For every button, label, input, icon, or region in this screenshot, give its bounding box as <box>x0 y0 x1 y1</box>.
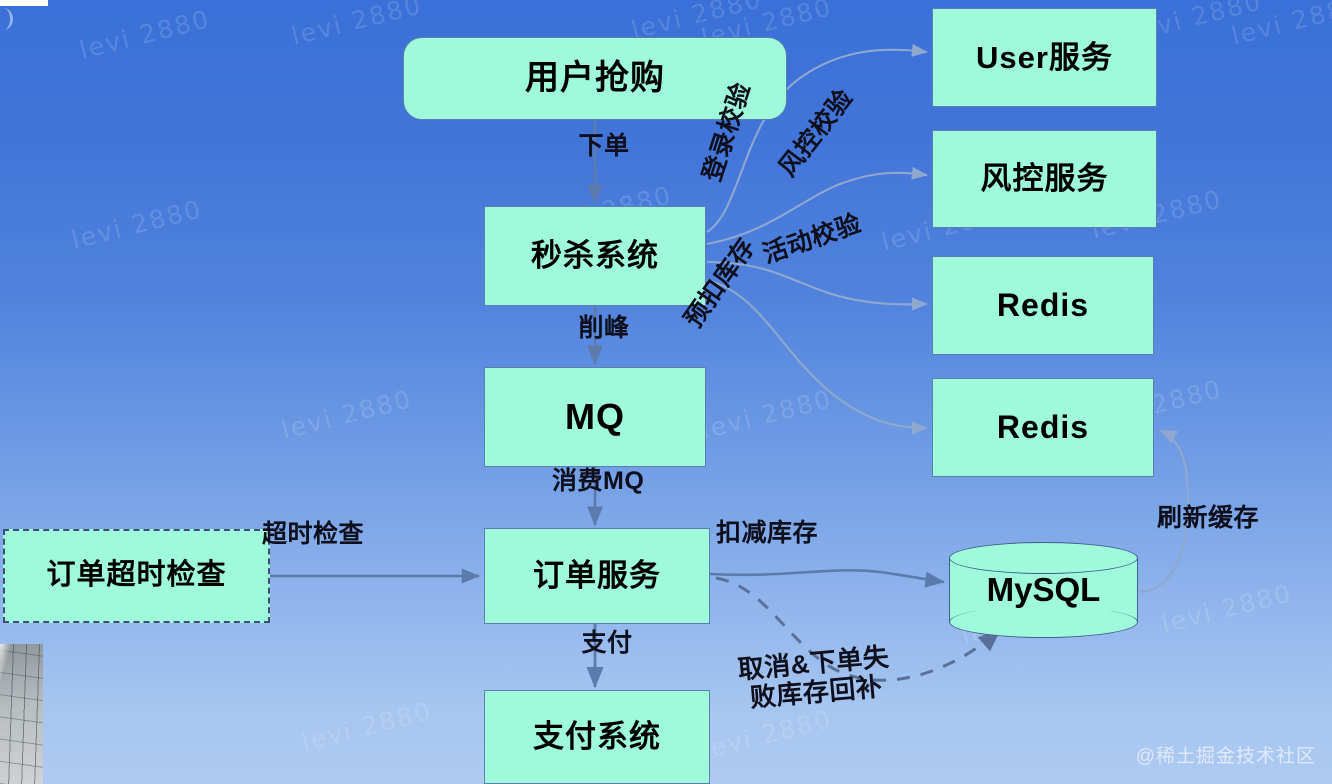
node-order-timeout[interactable]: 订单超时检查 <box>3 529 270 623</box>
node-redis-2[interactable]: Redis <box>932 378 1154 477</box>
edge-label-order: 下单 <box>579 132 630 160</box>
node-label: 秒杀系统 <box>531 238 659 274</box>
node-label: MQ <box>565 396 625 437</box>
node-label: 支付系统 <box>533 719 661 755</box>
node-order-service[interactable]: 订单服务 <box>484 528 710 624</box>
watermark-text: levi 2880 <box>76 4 213 64</box>
edge-deduct-stock <box>710 570 944 582</box>
watermark-text: levi 2880 <box>698 704 835 764</box>
watermark-text: levi 2880 <box>698 384 835 444</box>
node-label: 风控服务 <box>981 161 1109 197</box>
node-label: Redis <box>997 409 1089 446</box>
mysql-label: MySQL <box>949 542 1138 638</box>
node-label: 订单超时检查 <box>46 559 226 592</box>
node-label: 订单服务 <box>533 558 661 594</box>
node-pay-system[interactable]: 支付系统 <box>484 690 710 784</box>
node-mq[interactable]: MQ <box>484 367 706 467</box>
node-label: 用户抢购 <box>525 59 665 98</box>
watermark-text: levi 2880 <box>1158 578 1295 638</box>
edge-label-pay: 支付 <box>582 629 633 657</box>
node-user-svc[interactable]: User服务 <box>932 8 1157 107</box>
edge-label-activity: 活动校验 <box>759 209 865 269</box>
edge-label-restock: 取消&下单失 败库存回补 <box>737 642 893 713</box>
top-left-corner-arc <box>0 8 13 30</box>
edge-label-peakshave: 削峰 <box>579 314 630 342</box>
watermark-text: levi 2880 <box>278 384 415 444</box>
watermark-text: levi 2880 <box>288 0 425 51</box>
node-label: Redis <box>997 287 1089 324</box>
edge-label-timeout: 超时检查 <box>262 520 364 548</box>
top-left-white-strip <box>0 0 48 6</box>
video-thumbnail-fragment <box>0 644 43 784</box>
edge-pre-deduct-stock <box>707 280 927 428</box>
node-seckill[interactable]: 秒杀系统 <box>484 206 706 306</box>
watermark-text: levi 2880 <box>298 696 435 756</box>
diagram-canvas: levi 2880levi 2880levi 2880levi 2880levi… <box>0 0 1332 784</box>
watermark-text: levi 2880 <box>1228 0 1332 51</box>
watermark-text: levi 2880 <box>68 194 205 254</box>
mysql-database-node[interactable]: MySQL <box>949 542 1138 638</box>
site-watermark: @稀土掘金技术社区 <box>1136 741 1316 768</box>
edge-label-deduct-stock: 扣减库存 <box>716 519 818 547</box>
node-riskctl-svc[interactable]: 风控服务 <box>932 130 1157 228</box>
edge-label-consume-mq: 消费MQ <box>552 467 644 495</box>
edge-label-refresh: 刷新缓存 <box>1157 504 1259 532</box>
node-label: User服务 <box>976 40 1113 76</box>
node-redis-1[interactable]: Redis <box>932 256 1154 355</box>
